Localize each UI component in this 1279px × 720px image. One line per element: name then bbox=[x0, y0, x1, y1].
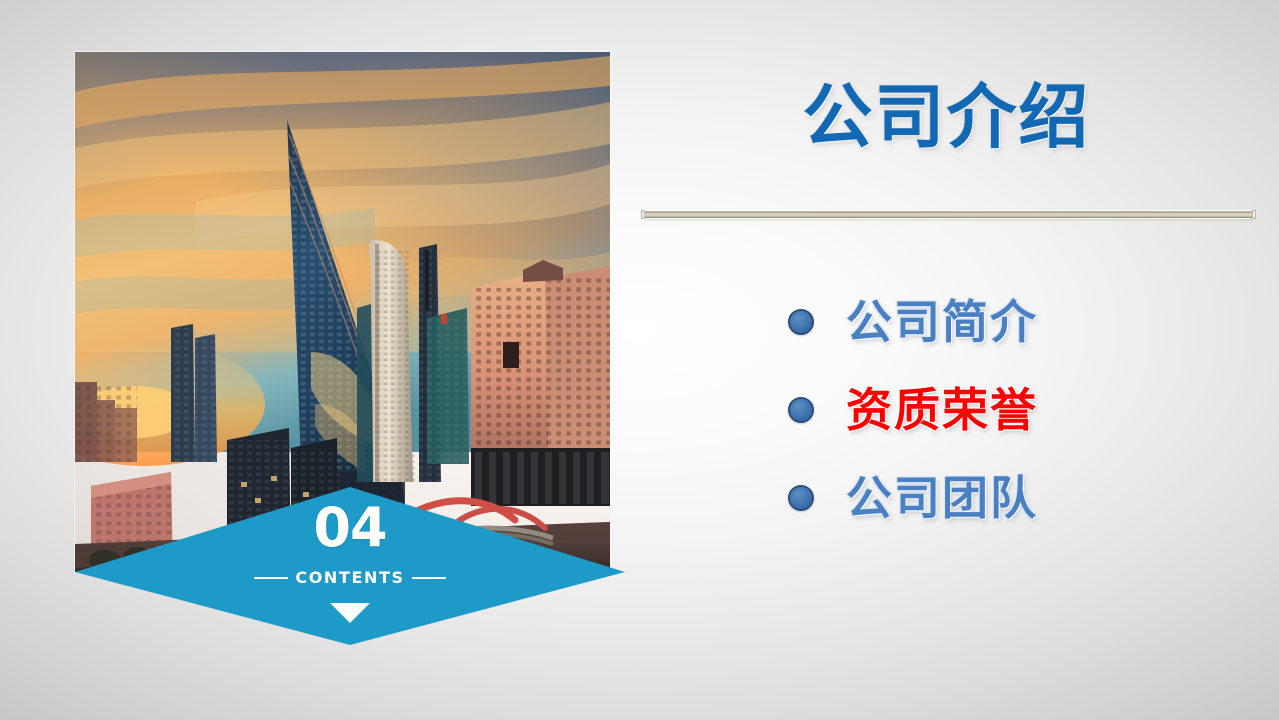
bullet-circle-icon bbox=[788, 485, 814, 511]
bullet-circle-icon bbox=[788, 309, 814, 335]
toc-item-qualifications-honors[interactable]: 资质荣誉 bbox=[788, 366, 1258, 454]
page-title: 公司介绍 bbox=[640, 82, 1253, 152]
toc-item-label: 资质荣誉 bbox=[846, 387, 1038, 433]
divider-bar bbox=[644, 210, 1253, 219]
toc-item-company-team[interactable]: 公司团队 bbox=[788, 454, 1258, 542]
city-skyline-sunset-photo bbox=[75, 52, 610, 572]
rule-right bbox=[412, 577, 446, 579]
triangle-down-icon bbox=[330, 603, 370, 623]
toc-item-company-profile[interactable]: 公司简介 bbox=[788, 278, 1258, 366]
toc-item-label: 公司团队 bbox=[846, 475, 1038, 521]
rule-left bbox=[254, 577, 288, 579]
title-divider bbox=[644, 210, 1253, 219]
toc-list: 公司简介 资质荣誉 公司团队 bbox=[788, 278, 1258, 542]
photo-artwork bbox=[75, 52, 610, 572]
presentation-slide: 04 CONTENTS 公司介绍 公司简介 资质荣誉 bbox=[0, 0, 1279, 720]
right-content-column: 公司介绍 公司简介 资质荣誉 公司团队 bbox=[640, 0, 1279, 720]
toc-item-label: 公司简介 bbox=[846, 299, 1038, 345]
divider-cap-right bbox=[1252, 210, 1256, 219]
bullet-circle-icon bbox=[788, 397, 814, 423]
